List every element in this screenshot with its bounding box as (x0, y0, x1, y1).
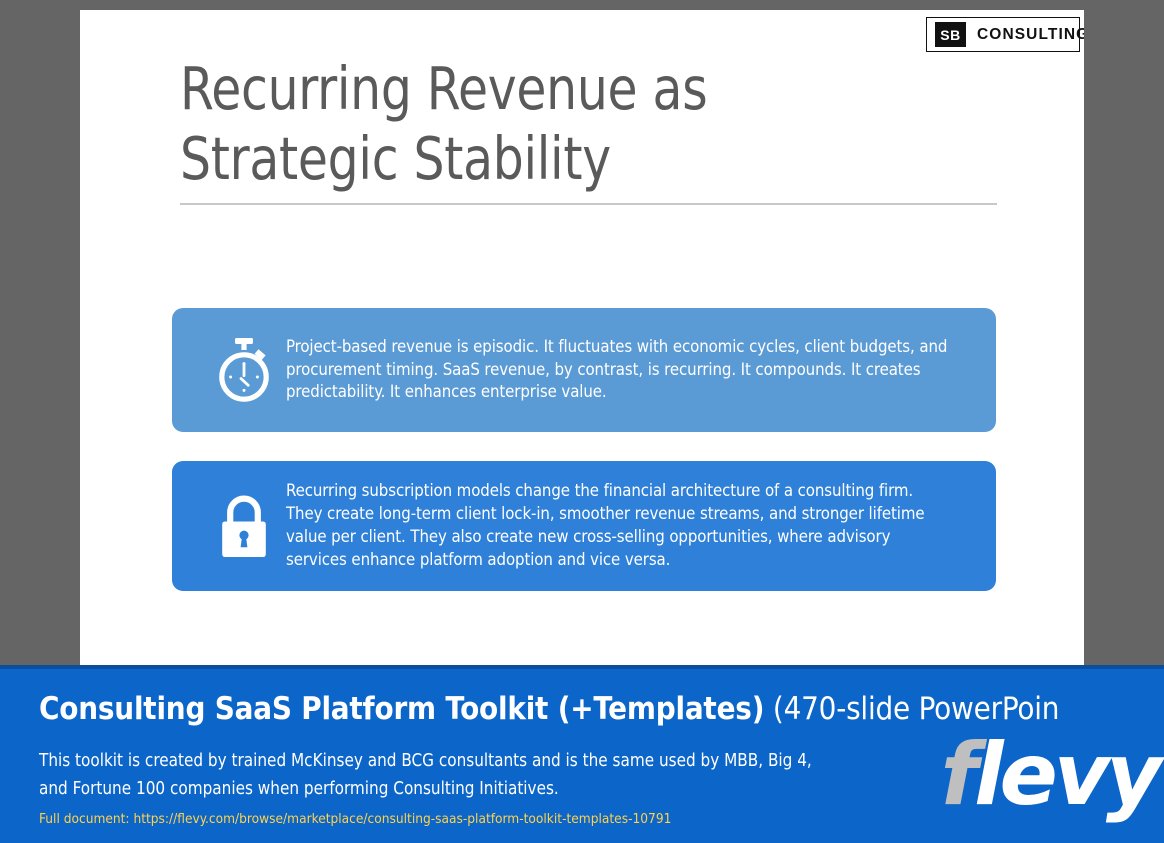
content-card-1: Project-based revenue is episodic. It fl… (172, 308, 996, 432)
sb-logo-wordmark: CONSULTING (977, 26, 1084, 44)
flevy-logo: flevy (941, 732, 1158, 818)
sb-consulting-logo: SB CONSULTING (926, 17, 1080, 52)
flevy-logo-levy: levy (974, 725, 1158, 825)
banner-title-light: (470-slide PowerPoin (764, 691, 1059, 727)
banner-url-link[interactable]: Full document: https://flevy.com/browse/… (39, 811, 671, 827)
banner-title-bold: Consulting SaaS Platform Toolkit (+Templ… (39, 691, 764, 727)
card-2-text: Recurring subscription models change the… (286, 480, 949, 572)
slide-title: Recurring Revenue as Strategic Stability (180, 54, 934, 193)
slide-canvas: SB CONSULTING Recurring Revenue as Strat… (80, 10, 1084, 665)
banner-description: This toolkit is created by trained McKin… (39, 747, 844, 804)
padlock-icon (202, 492, 286, 560)
banner-title: Consulting SaaS Platform Toolkit (+Templ… (39, 691, 1059, 727)
stopwatch-icon (202, 337, 286, 403)
card-1-text: Project-based revenue is episodic. It fl… (286, 336, 949, 405)
sb-logo-mark: SB (935, 22, 966, 47)
title-divider (180, 203, 997, 205)
flevy-logo-f: f (941, 725, 974, 825)
content-card-2: Recurring subscription models change the… (172, 461, 996, 591)
